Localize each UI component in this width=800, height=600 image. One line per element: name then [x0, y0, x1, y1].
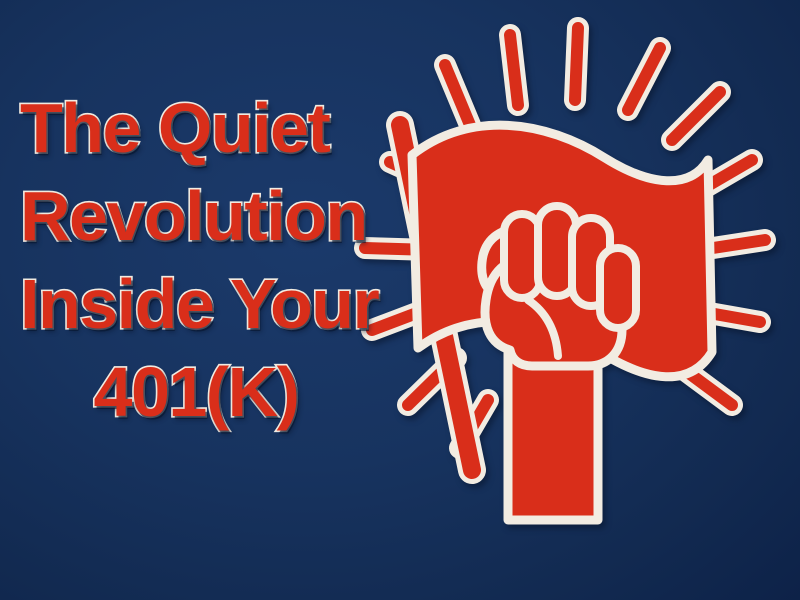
fist-flag-illustration — [360, 0, 800, 600]
hero-illustration — [360, 0, 800, 600]
headline-line-1: The Quiet — [0, 84, 392, 172]
headline-line-4: 401(K) — [0, 348, 392, 436]
headline-line-3: Inside Your — [0, 260, 392, 348]
headline-block: The Quiet Revolution Inside Your 401(K) — [0, 84, 392, 436]
poster-canvas: The Quiet Revolution Inside Your 401(K) — [0, 0, 800, 600]
raised-fist — [482, 206, 636, 366]
headline-line-2: Revolution — [0, 172, 392, 260]
